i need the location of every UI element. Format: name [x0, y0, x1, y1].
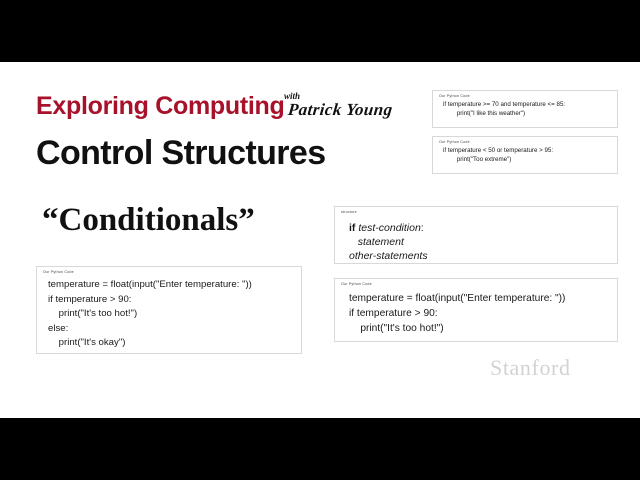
structure-text: if test-condition: statement other-state… [349, 221, 428, 263]
structure-block: structure if test-condition: statement o… [334, 206, 618, 264]
slide-canvas: Exploring Computing with Patrick Young C… [0, 62, 640, 418]
colon: : [421, 222, 424, 234]
test-condition-placeholder: test-condition [358, 222, 420, 234]
statement-placeholder: statement [358, 236, 404, 248]
code-block-label: Our Python Code [341, 282, 372, 286]
code-block-condition-or: Our Python Code if temperature < 50 or t… [432, 136, 618, 174]
structure-block-label: structure [341, 210, 357, 214]
series-title: Exploring Computing [36, 92, 284, 121]
code-block-if-else: Our Python Code temperature = float(inpu… [36, 266, 302, 354]
brand-block: Exploring Computing with Patrick Young [36, 92, 406, 126]
code-text: if temperature < 50 or temperature > 95:… [443, 146, 553, 164]
letterbox-bottom [0, 418, 640, 480]
stanford-wordmark: Stanford [490, 355, 571, 381]
page-title: Control Structures [36, 134, 326, 173]
video-frame: Exploring Computing with Patrick Young C… [0, 0, 640, 480]
code-block-simple-if: Our Python Code temperature = float(inpu… [334, 278, 618, 342]
code-block-condition-and: Our Python Code if temperature >= 70 and… [432, 90, 618, 128]
code-text: temperature = float(input("Enter tempera… [349, 291, 565, 336]
code-text: temperature = float(input("Enter tempera… [48, 278, 252, 351]
code-block-label: Our Python Code [439, 94, 470, 98]
code-text: if temperature >= 70 and temperature <= … [443, 100, 565, 118]
keyword-if: if [349, 222, 355, 234]
other-statements-placeholder: other-statements [349, 250, 428, 262]
presenter-name: Patrick Young [287, 100, 394, 120]
letterbox-top [0, 0, 640, 62]
code-block-label: Our Python Code [43, 270, 74, 274]
code-block-label: Our Python Code [439, 140, 470, 144]
page-subtitle: “Conditionals” [42, 202, 255, 239]
